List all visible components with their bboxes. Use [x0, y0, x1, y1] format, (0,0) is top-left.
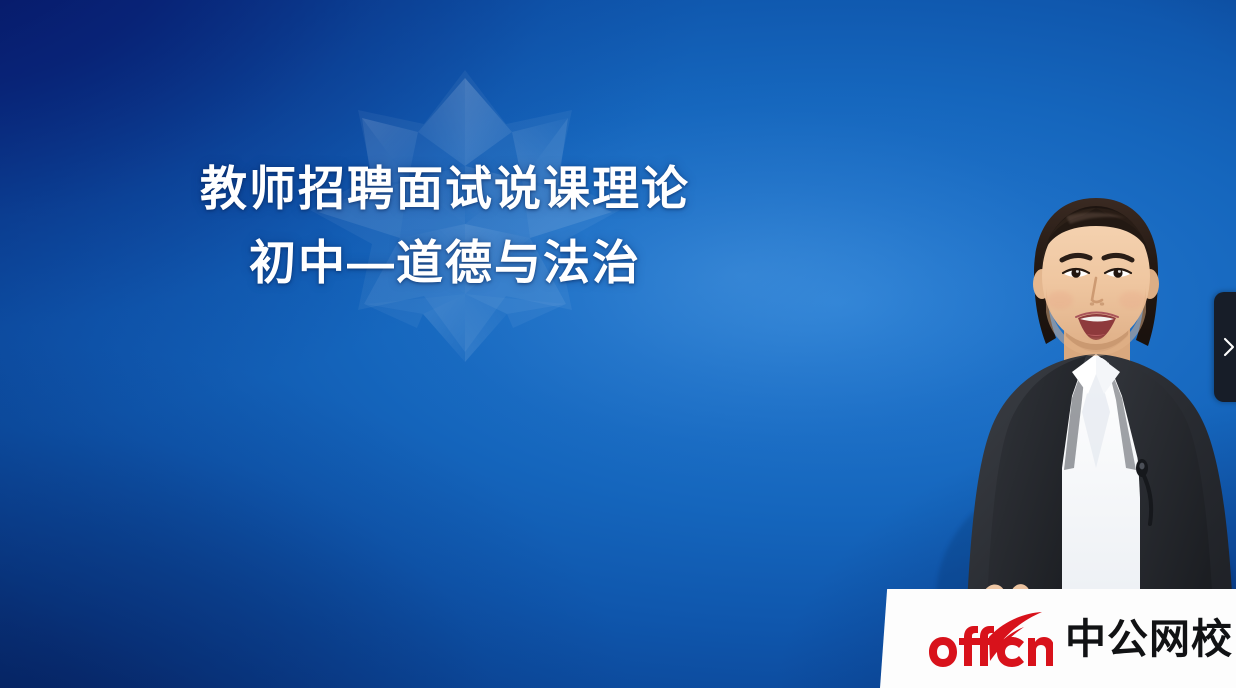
- chevron-right-icon[interactable]: [1221, 336, 1236, 358]
- next-slide-panel[interactable]: [1214, 292, 1236, 402]
- video-slide-stage: 教师招聘面试说课理论 初中—道德与法治: [0, 0, 1236, 688]
- background-vignette: [0, 0, 1236, 688]
